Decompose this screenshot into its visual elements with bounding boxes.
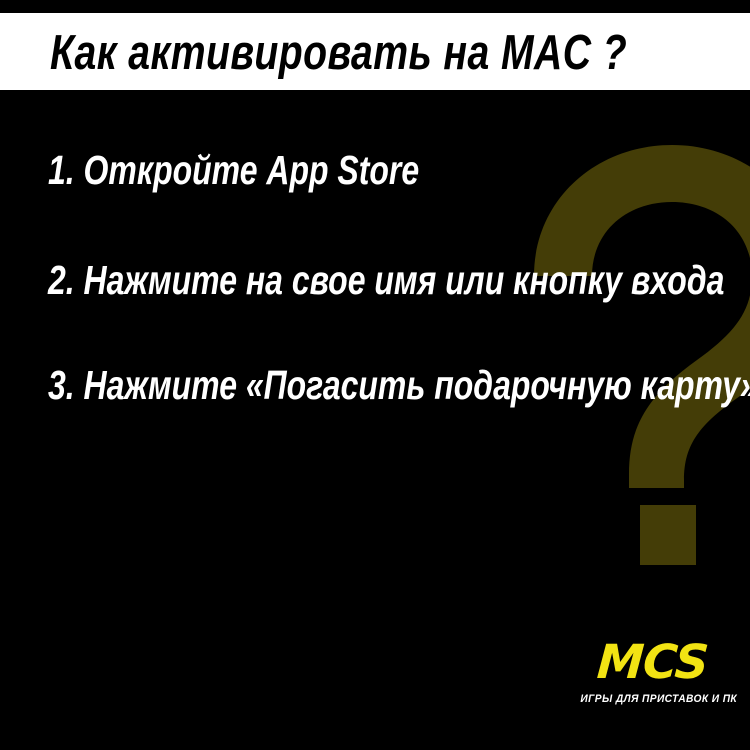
header-band: Как активировать на MAC ? xyxy=(0,13,750,90)
page-title: Как активировать на MAC ? xyxy=(50,27,627,79)
logo-wordmark: MCS xyxy=(573,638,731,687)
question-mark-dot xyxy=(640,505,696,565)
logo-tagline: ИГРЫ ДЛЯ ПРИСТАВОК И ПК xyxy=(580,693,724,706)
brand-logo: MCS ИГРЫ ДЛЯ ПРИСТАВОК И ПК xyxy=(575,638,730,706)
step-item-2: 2. Нажмите на свое имя или кнопку входа xyxy=(48,258,724,302)
step-item-1: 1. Откройте App Store xyxy=(48,148,419,192)
promo-poster: Как активировать на MAC ? 1. Откройте Ap… xyxy=(0,0,750,750)
step-item-3: 3. Нажмите «Погасить подарочную карту». xyxy=(48,363,750,407)
